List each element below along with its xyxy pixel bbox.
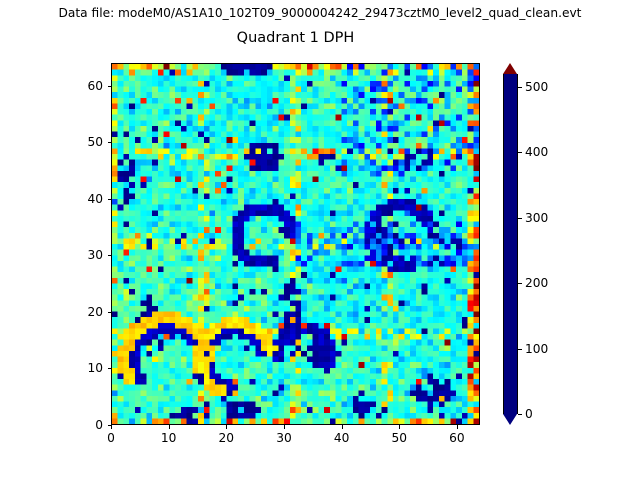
y-tick-label: 50 xyxy=(71,135,103,149)
x-tick-label: 40 xyxy=(334,431,350,445)
y-tick-label: 10 xyxy=(71,361,103,375)
colorbar-tick-mark xyxy=(518,218,522,219)
colorbar-gradient xyxy=(504,74,517,414)
y-tick-label: 40 xyxy=(71,192,103,206)
y-tick-mark xyxy=(108,199,112,200)
colorbar: 0100200300400500 xyxy=(503,63,518,425)
colorbar-tick-label: 400 xyxy=(525,145,548,159)
colorbar-tick-mark xyxy=(518,87,522,88)
x-tick-mark xyxy=(342,425,343,429)
x-tick-mark xyxy=(457,425,458,429)
colorbar-tick-mark xyxy=(518,152,522,153)
x-tick-mark xyxy=(169,425,170,429)
colorbar-tick-mark xyxy=(518,349,522,350)
colorbar-tick-label: 500 xyxy=(525,80,548,94)
y-tick-mark xyxy=(108,368,112,369)
y-tick-mark xyxy=(108,425,112,426)
y-tick-mark xyxy=(108,142,112,143)
colorbar-extend-max-arrow-icon xyxy=(503,63,517,74)
y-tick-label: 20 xyxy=(71,305,103,319)
plot-title: Quadrant 1 DPH xyxy=(111,30,480,46)
x-tick-label: 50 xyxy=(392,431,408,445)
y-tick-mark xyxy=(108,86,112,87)
y-tick-label: 60 xyxy=(71,79,103,93)
heatmap-axes xyxy=(111,63,480,425)
dph-heatmap-image xyxy=(112,64,479,424)
y-tick-mark xyxy=(108,255,112,256)
colorbar-tick-label: 300 xyxy=(525,211,548,225)
x-tick-label: 10 xyxy=(161,431,177,445)
x-tick-label: 30 xyxy=(276,431,292,445)
x-tick-mark xyxy=(226,425,227,429)
x-tick-label: 0 xyxy=(107,431,115,445)
x-tick-label: 60 xyxy=(449,431,465,445)
x-tick-label: 20 xyxy=(219,431,235,445)
y-tick-label: 30 xyxy=(71,248,103,262)
x-tick-mark xyxy=(284,425,285,429)
colorbar-tick-label: 0 xyxy=(525,407,533,421)
y-tick-mark xyxy=(108,312,112,313)
x-tick-mark xyxy=(399,425,400,429)
colorbar-tick-label: 200 xyxy=(525,276,548,290)
data-file-suptitle: Data file: modeM0/AS1A10_102T09_90000042… xyxy=(0,6,640,20)
x-tick-mark xyxy=(111,425,112,429)
colorbar-extend-min-arrow-icon xyxy=(503,414,517,425)
y-tick-label: 0 xyxy=(71,418,103,432)
colorbar-tick-mark xyxy=(518,283,522,284)
matplotlib-figure: Data file: modeM0/AS1A10_102T09_90000042… xyxy=(0,0,640,480)
colorbar-tick-label: 100 xyxy=(525,342,548,356)
colorbar-tick-mark xyxy=(518,414,522,415)
colorbar-body xyxy=(503,74,518,414)
